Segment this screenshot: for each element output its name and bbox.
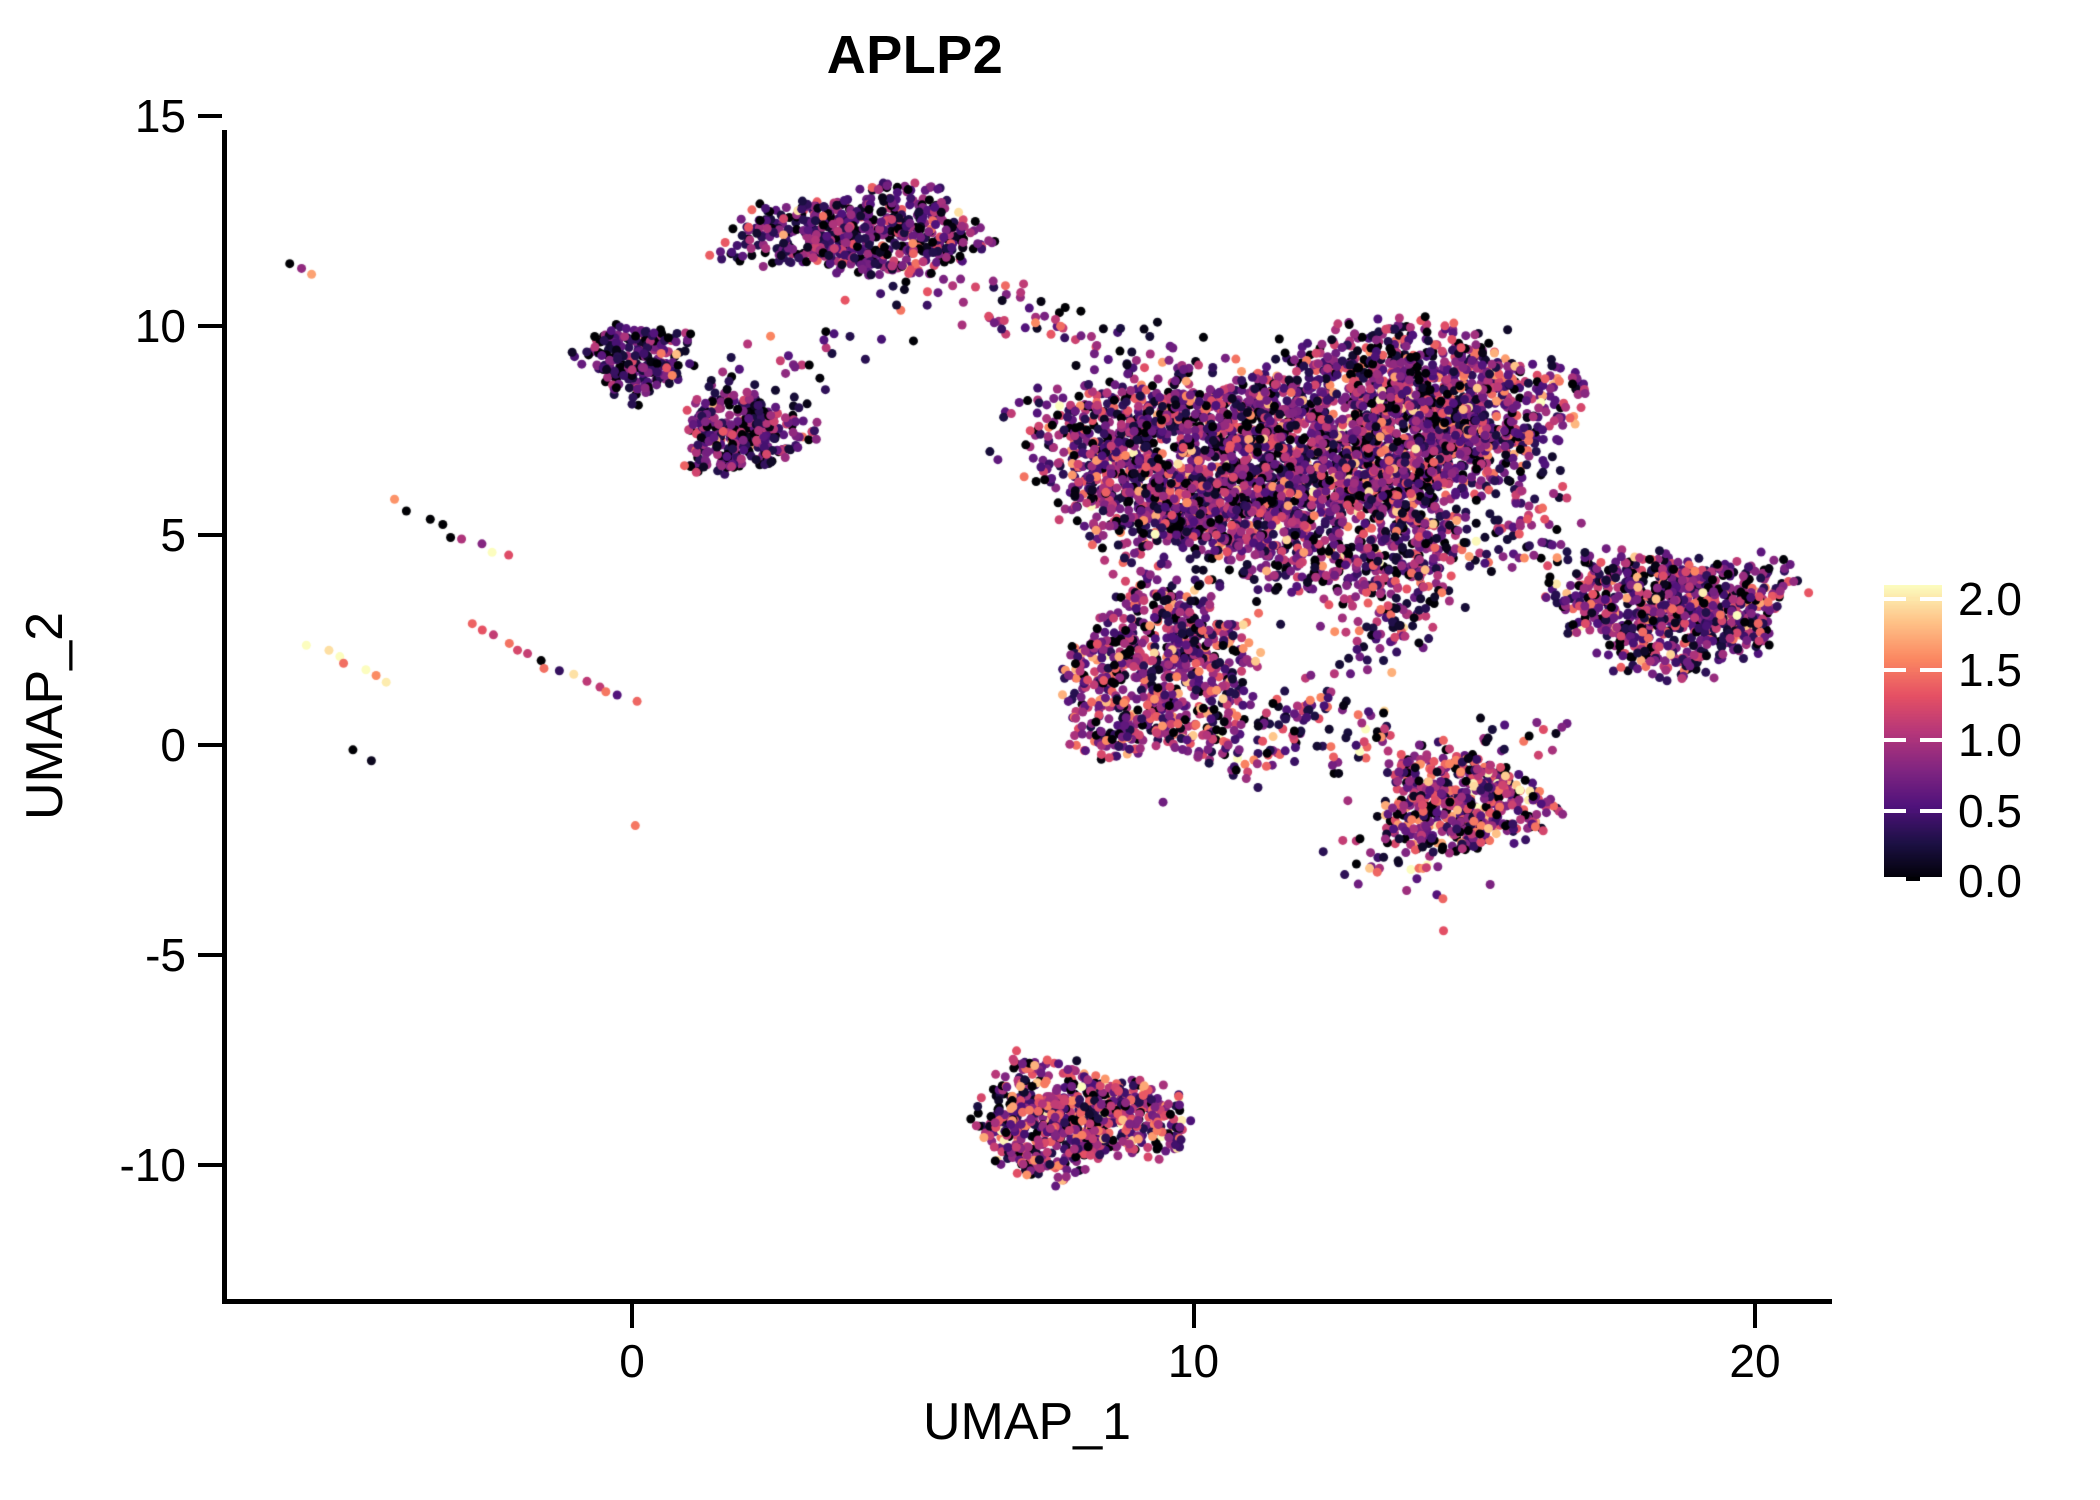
y-axis-label: UMAP_2 — [15, 611, 75, 819]
colorbar-tick-gap — [1906, 597, 1920, 601]
x-axis-label: UMAP_1 — [222, 1392, 1832, 1452]
colorbar-tick-label: 1.5 — [1958, 643, 2022, 697]
y-axis-label-wrap: UMAP_2 — [0, 130, 90, 1301]
y-tick-mark — [198, 114, 222, 118]
y-tick-mark — [198, 953, 222, 957]
x-tick-label: 0 — [552, 1334, 712, 1388]
x-tick-label: 10 — [1114, 1334, 1274, 1388]
x-tick-mark — [1192, 1304, 1196, 1328]
y-tick-mark — [198, 533, 222, 537]
colorbar-tick-label: 1.0 — [1958, 713, 2022, 767]
x-axis-line — [222, 1299, 1832, 1304]
umap-feature-plot: APLP2 -10-5051015 01020 UMAP_2 UMAP_1 2.… — [0, 0, 2100, 1500]
colorbar-tick-label: 0.0 — [1958, 854, 2022, 908]
colorbar-tick-label: 0.5 — [1958, 784, 2022, 838]
y-tick-mark — [198, 743, 222, 747]
colorbar-tick-gap — [1906, 668, 1920, 672]
x-tick-label: 20 — [1675, 1334, 1835, 1388]
colorbar-tick-gap — [1906, 738, 1920, 742]
colorbar-tick-gap — [1906, 877, 1920, 881]
y-tick-mark — [198, 1163, 222, 1167]
y-tick-mark — [198, 324, 222, 328]
colorbar-tick-label: 2.0 — [1958, 572, 2022, 626]
colorbar-gradient — [1884, 585, 1942, 881]
y-axis-line — [222, 130, 227, 1304]
scatter-points-layer — [0, 0, 2100, 1500]
x-tick-mark — [1753, 1304, 1757, 1328]
colorbar-tick-gap — [1906, 809, 1920, 813]
x-tick-mark — [630, 1304, 634, 1328]
